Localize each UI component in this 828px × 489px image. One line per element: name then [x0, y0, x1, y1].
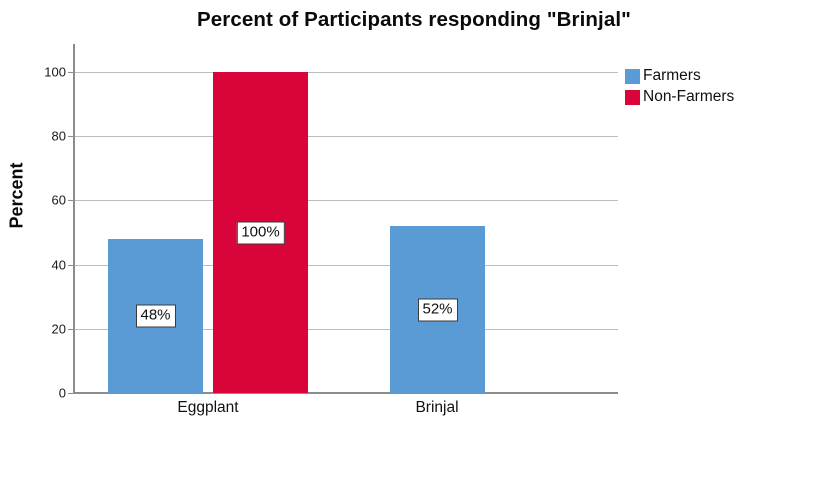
y-axis-tick [68, 265, 75, 266]
legend-swatch-icon [625, 90, 640, 105]
y-axis-tick-label: 60 [6, 193, 66, 208]
gridline [75, 136, 618, 137]
legend-item-farmers[interactable]: Farmers [625, 66, 734, 86]
legend-swatch-icon [625, 69, 640, 84]
chart-legend: FarmersNon-Farmers [625, 66, 734, 108]
chart-title: Percent of Participants responding "Brin… [0, 8, 828, 32]
y-axis-tick [68, 200, 75, 201]
y-axis-tick-label: 0 [6, 386, 66, 401]
y-axis-tick-label: 40 [6, 257, 66, 272]
x-axis-label-brinjal: Brinjal [415, 399, 458, 417]
plot-area: 48%52%100% [75, 44, 618, 393]
gridline [75, 200, 618, 201]
data-label: 52% [417, 298, 457, 321]
y-axis-tick-label: 20 [6, 321, 66, 336]
legend-item-label: Farmers [643, 67, 701, 85]
y-axis-tick [68, 136, 75, 137]
y-axis-tick [68, 329, 75, 330]
y-axis-tick-label: 80 [6, 129, 66, 144]
y-axis-tick-label: 100 [6, 65, 66, 80]
data-label: 48% [135, 304, 175, 327]
x-axis-label-eggplant: Eggplant [177, 399, 238, 417]
legend-item-label: Non-Farmers [643, 88, 734, 106]
y-axis-tick [68, 72, 75, 73]
data-label: 100% [236, 221, 284, 244]
y-axis-tick [68, 393, 75, 394]
chart-container: Percent of Participants responding "Brin… [0, 0, 828, 489]
legend-item-non-farmers[interactable]: Non-Farmers [625, 87, 734, 107]
y-axis-tick-labels: 020406080100 [0, 0, 66, 489]
gridline [75, 72, 618, 73]
